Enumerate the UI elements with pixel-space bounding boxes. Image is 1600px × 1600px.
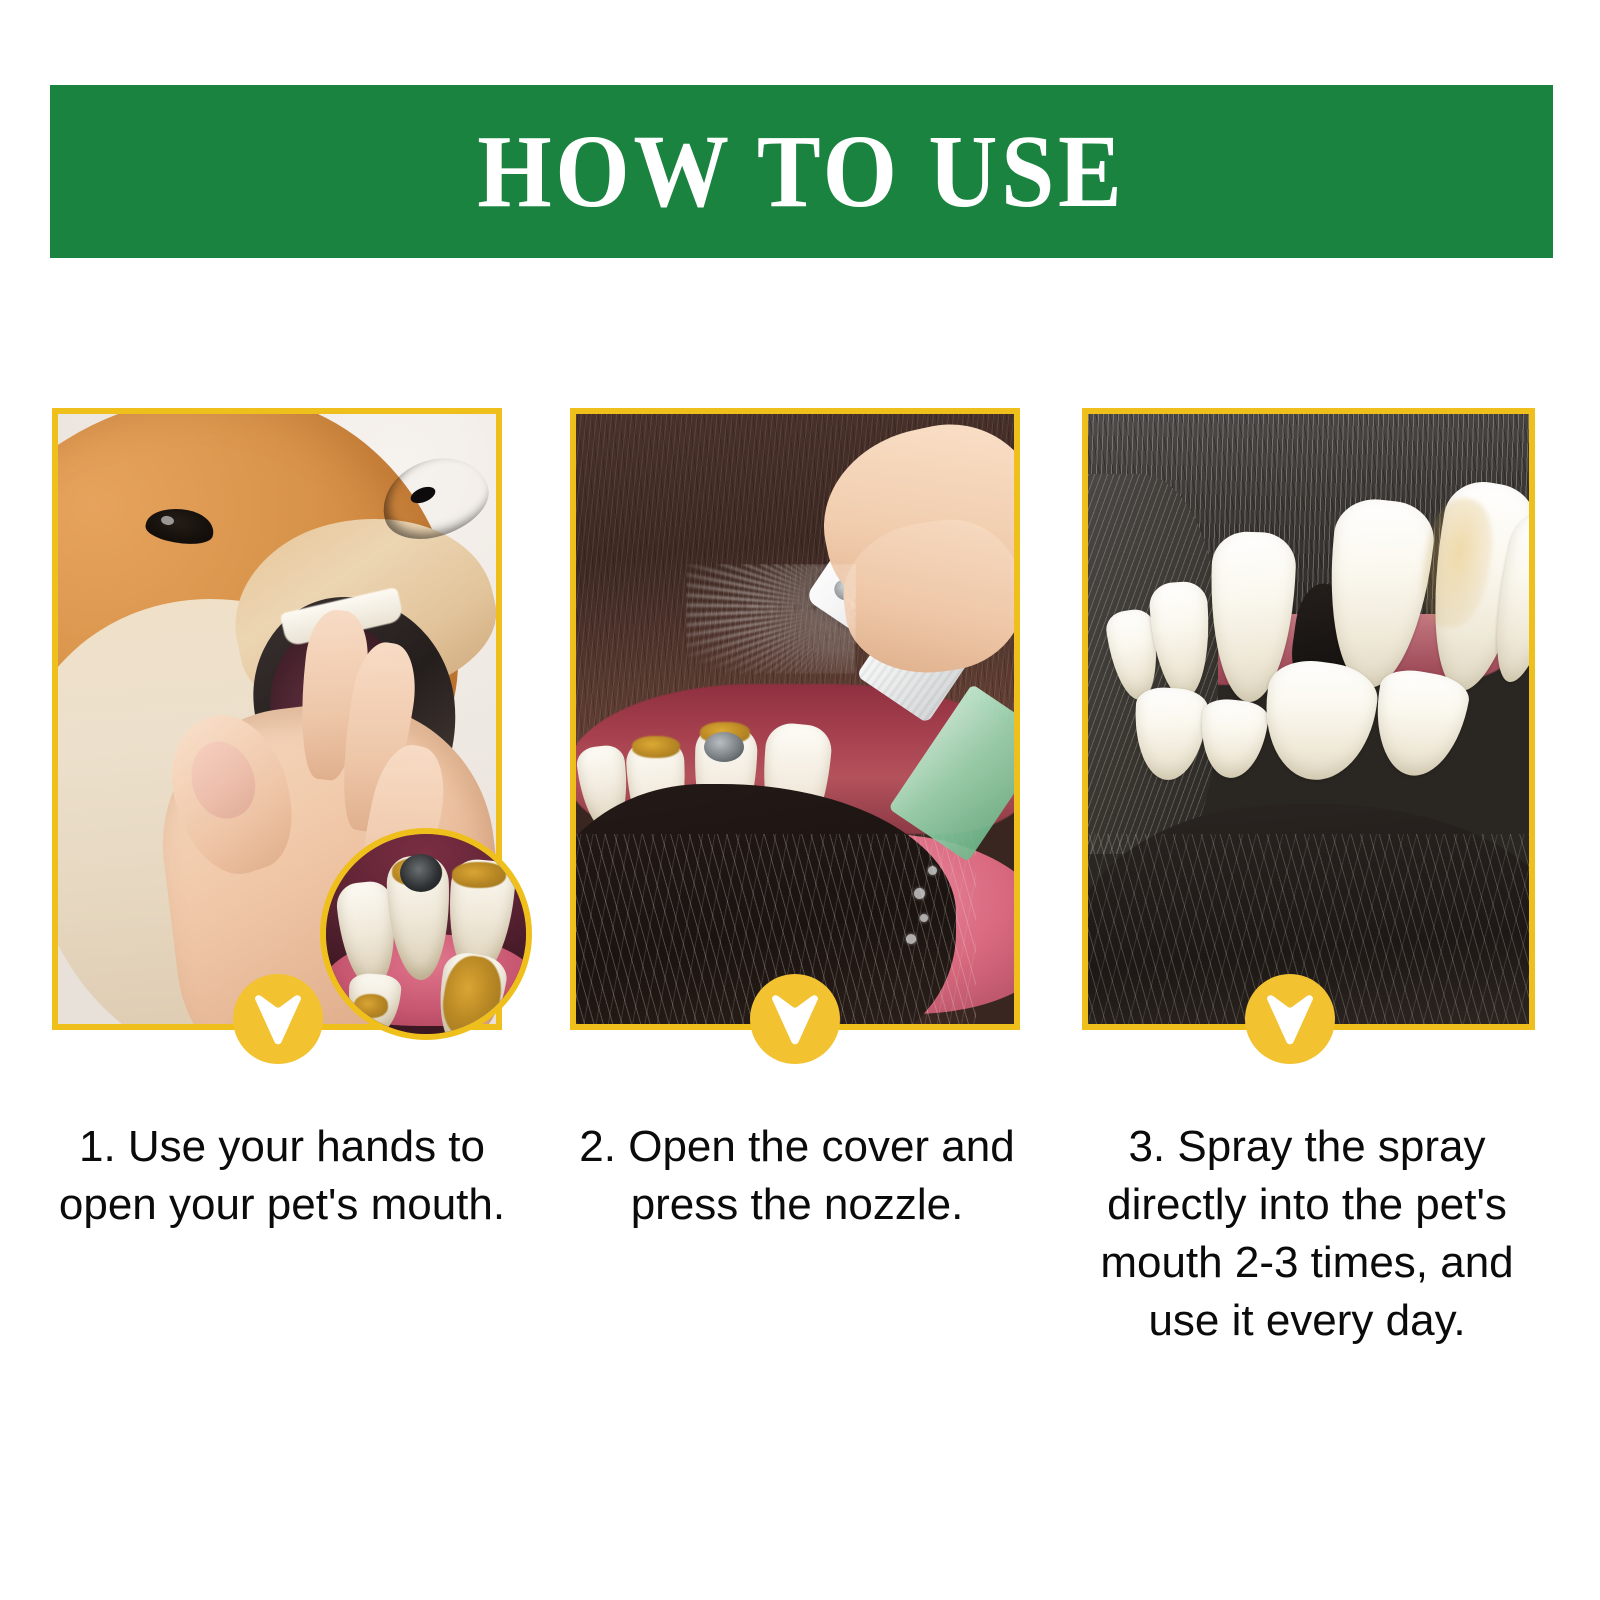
mist-droplet-1 <box>928 866 937 875</box>
step-1-caption: 1. Use your hands to open your pet's mou… <box>52 1118 512 1234</box>
tartar-closeup-inset <box>320 828 532 1040</box>
steps-container: 1. Use your hands to open your pet's mou… <box>0 0 1600 1600</box>
inset-tartar-4 <box>354 994 388 1018</box>
mist-droplet-4 <box>906 934 916 944</box>
inset-dark-gap <box>400 854 442 892</box>
step-2-photo <box>576 414 1014 1024</box>
mist-droplet-3 <box>920 914 928 922</box>
step-3-badge <box>1245 974 1335 1064</box>
step-3 <box>1082 408 1535 1030</box>
step-3-photo-frame <box>1082 408 1535 1030</box>
step-2 <box>570 408 1020 1030</box>
step-2-caption: 2. Open the cover and press the nozzle. <box>562 1118 1032 1234</box>
step-3-caption: 3. Spray the spray directly into the pet… <box>1072 1118 1542 1350</box>
step-2-photo-frame <box>570 408 1020 1030</box>
step-2-badge <box>750 974 840 1064</box>
step-3-photo <box>1088 414 1529 1024</box>
step-1-badge <box>233 974 323 1064</box>
tartar-deposit-2 <box>632 736 680 758</box>
tooth-metallic-spot <box>704 732 744 762</box>
inset-tartar-3 <box>452 862 506 888</box>
chevron-down-icon <box>252 992 304 1046</box>
chevron-down-icon <box>769 992 821 1046</box>
chevron-down-icon <box>1264 992 1316 1046</box>
mist-droplet-2 <box>914 888 925 899</box>
